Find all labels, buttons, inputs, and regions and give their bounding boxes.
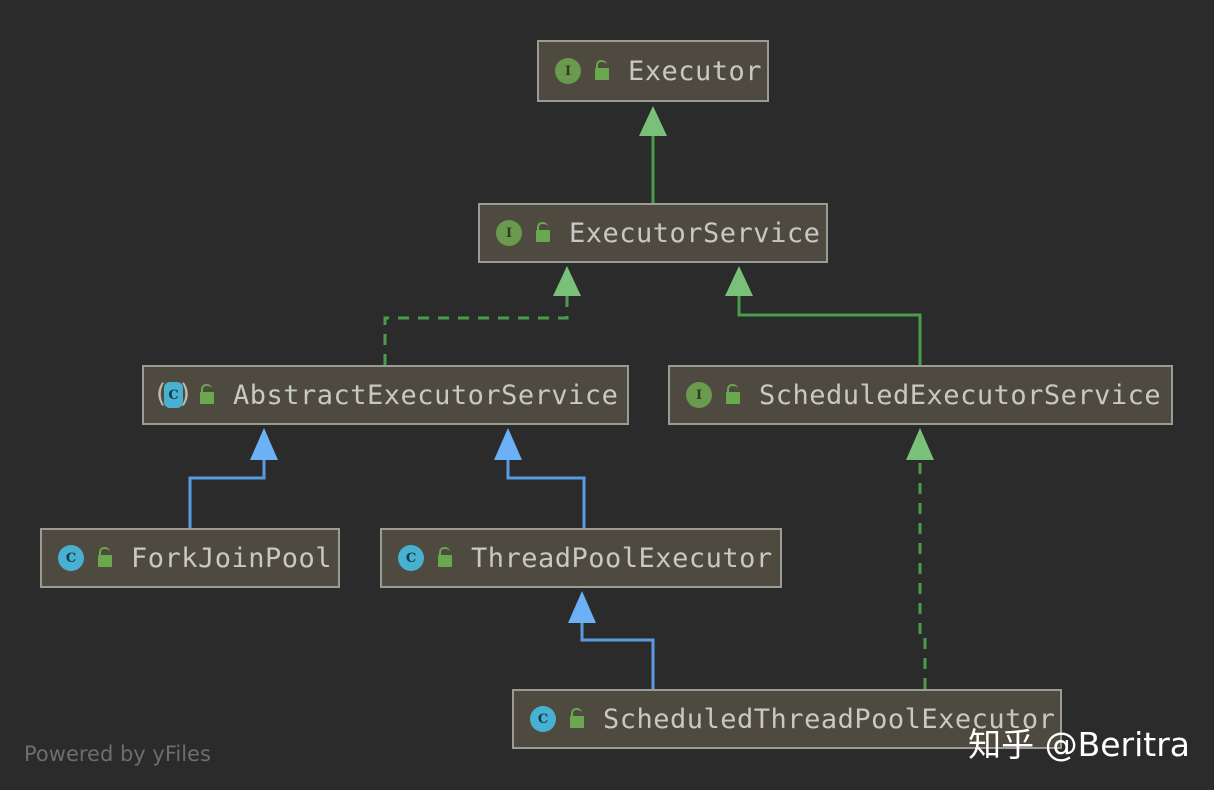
uml-node-executor[interactable]: I Executor (537, 40, 769, 102)
uml-node-label: ForkJoinPool (131, 543, 332, 574)
uml-node-label: ThreadPoolExecutor (471, 543, 773, 574)
unlock-icon (435, 547, 455, 569)
uml-node-label: ScheduledExecutorService (759, 380, 1161, 411)
interface-icon: I (684, 380, 714, 410)
edge-scheduledthreadpoolexecutor-to-scheduledexecutorservice (906, 428, 934, 689)
unlock-icon (592, 60, 612, 82)
edge-scheduledexecutorservice-to-executorservice (725, 266, 920, 365)
unlock-icon (567, 708, 587, 730)
edge-scheduledthreadpoolexecutor-to-threadpoolexecutor (568, 591, 653, 689)
uml-node-thread-pool-executor[interactable]: C ThreadPoolExecutor (380, 528, 782, 588)
class-icon: C (396, 543, 426, 573)
edge-abstractexecutorservice-to-executorservice (385, 266, 581, 365)
uml-node-label: ExecutorService (569, 218, 820, 249)
interface-icon: I (494, 218, 524, 248)
interface-icon: I (553, 56, 583, 86)
edge-forkjoinpool-to-abstractexecutorservice (190, 428, 278, 528)
uml-node-label: AbstractExecutorService (233, 380, 618, 411)
unlock-icon (197, 384, 217, 406)
edge-threadpoolexecutor-to-abstractexecutorservice (494, 428, 584, 528)
uml-diagram-canvas: Executor (solid green) --> ExecutorServi… (0, 0, 1214, 790)
class-icon: C (528, 704, 558, 734)
abstract-class-icon: ( C ) (158, 380, 188, 410)
uml-node-label: Executor (628, 56, 762, 87)
edge-executorservice-to-executor (639, 106, 667, 203)
yfiles-watermark: Powered by yFiles (24, 742, 211, 766)
unlock-icon (95, 547, 115, 569)
uml-node-executor-service[interactable]: I ExecutorService (478, 203, 828, 263)
uml-node-fork-join-pool[interactable]: C ForkJoinPool (40, 528, 340, 588)
class-icon: C (56, 543, 86, 573)
unlock-icon (723, 384, 743, 406)
uml-node-scheduled-executor-service[interactable]: I ScheduledExecutorService (668, 365, 1173, 425)
author-watermark: 知乎 @Beritra (968, 718, 1190, 766)
unlock-icon (533, 222, 553, 244)
uml-node-abstract-executor-service[interactable]: ( C ) AbstractExecutorService (142, 365, 629, 425)
